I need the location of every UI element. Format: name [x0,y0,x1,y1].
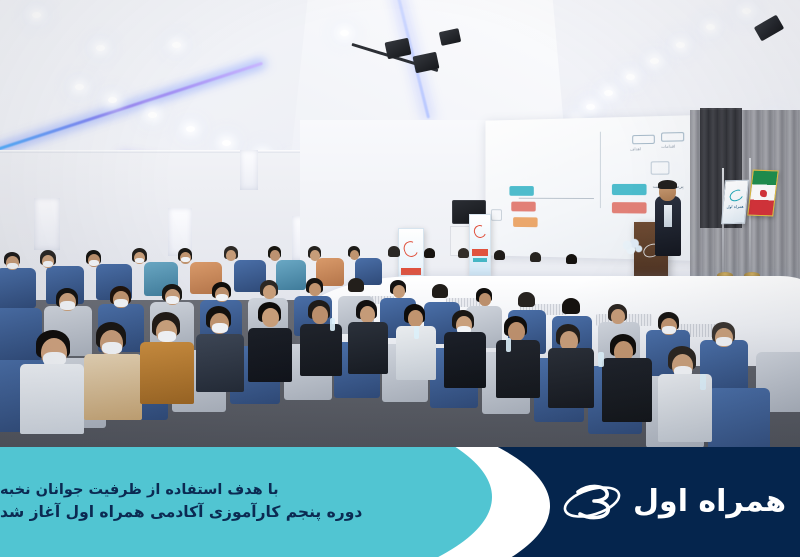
ceiling-light-icon [148,112,157,118]
attendee-body [140,342,194,404]
ceiling-light-icon [340,30,349,36]
wall-light-panel [34,198,60,250]
company-flag-icon: همراه اول [721,180,749,224]
attendee-body [84,354,142,420]
face-mask-icon [135,258,144,263]
attendee-face [479,293,491,306]
rollup-accent-bar [472,249,488,256]
attendee-face [312,306,328,324]
rollup-accent-bar [401,268,420,275]
speaker-shirt [664,205,672,227]
rollup-banner [469,214,491,276]
attendee-face [262,308,279,327]
ceiling-light-icon [75,84,84,90]
company-flag-label: همراه اول [726,204,744,209]
attendee-head [348,278,364,292]
slide-box [513,217,537,227]
water-bottle [598,352,604,367]
mci-swoosh-icon [728,188,745,204]
water-bottle [506,338,511,352]
attendee-face [611,309,625,324]
attendee-head [424,248,435,258]
slide-box [509,186,533,196]
ceiling-light-icon [676,42,685,48]
slide-box [511,202,535,212]
attendee-body [602,358,652,422]
flower-arrangement [620,238,644,256]
attendee-head [518,292,535,307]
attendee-face [350,250,359,260]
brand-wordmark: همراه اول [633,487,786,517]
ceiling-light-icon [650,58,659,64]
screenshot-root: اهداف اقدامات پرسنل شرکت همراه اول [0,0,800,557]
attendee-face [309,283,321,296]
headline-line-2: دوره پنجم کارآموزی آکادمی همراه اول آغاز… [0,503,362,522]
attendee-head [530,252,541,262]
attendee-body [196,334,244,392]
face-mask-icon [114,299,128,307]
water-bottle [330,318,335,331]
auditorium-seat [0,268,36,308]
mci-swoosh-icon [472,223,488,240]
water-bottle [414,326,419,339]
attendee-body [348,322,388,374]
attendee-head [432,284,448,298]
rollup-accent-bar [473,258,487,262]
ceiling-light-icon [604,90,613,96]
attendee-body [496,340,540,398]
ceiling-light-icon [222,140,231,146]
face-mask-icon [89,260,99,266]
attendee-face [393,285,405,298]
attendee-body [248,328,292,382]
attendee-head [494,250,505,260]
slide-box [612,202,647,213]
attendee-face [360,306,375,323]
attendee-body [444,332,486,388]
face-mask-icon [716,337,732,346]
ceiling-light-icon [172,42,181,48]
face-mask-icon [212,323,228,333]
mci-orbit-swoosh-icon [561,479,623,525]
face-mask-icon [43,261,53,267]
wall-light-panel [240,150,258,190]
face-mask-icon [181,257,190,262]
face-mask-icon [662,326,676,334]
attendee-head [566,254,577,264]
ceiling-light-icon [586,104,595,110]
event-photo: اهداف اقدامات پرسنل شرکت همراه اول [0,0,800,470]
ceiling-light-icon [108,97,117,103]
face-mask-icon [60,301,75,310]
slide-box [612,184,647,195]
ceiling-light-icon [742,8,751,14]
speaker-hair [658,180,677,189]
attendee-face [263,285,276,299]
bottom-banner: با هدف استفاده از ظرفیت جوانان نخبه دوره… [0,447,800,557]
face-mask-icon [166,296,179,304]
attendee-body [20,364,84,434]
ceiling-light-icon [626,74,635,80]
water-bottle [700,374,706,390]
ceiling-light-icon [32,12,41,18]
headline-block: با هدف استفاده از ظرفیت جوانان نخبه دوره… [0,447,420,557]
face-mask-icon [158,331,176,342]
headline-line-1: با هدف استفاده از ظرفیت جوانان نخبه [0,481,279,499]
attendee-body [548,348,594,408]
face-mask-icon [102,342,122,354]
mci-swoosh-icon [401,238,420,258]
attendee-body [300,324,342,376]
attendee-face [408,310,423,327]
attendee-face [270,250,280,261]
ceiling-light-icon [96,45,105,51]
face-mask-icon [216,294,228,301]
attendee-head [458,248,469,258]
ceiling-light-icon [706,24,715,30]
ceiling-light-icon [186,126,195,132]
attendee-head [562,298,580,314]
flag-pole [749,158,751,276]
attendee-face [226,250,236,261]
brand-lockup[interactable]: همراه اول [561,479,786,525]
auditorium-seat [276,260,306,290]
face-mask-icon [7,263,18,269]
attendee-head [388,246,400,257]
attendee-face [310,250,320,261]
